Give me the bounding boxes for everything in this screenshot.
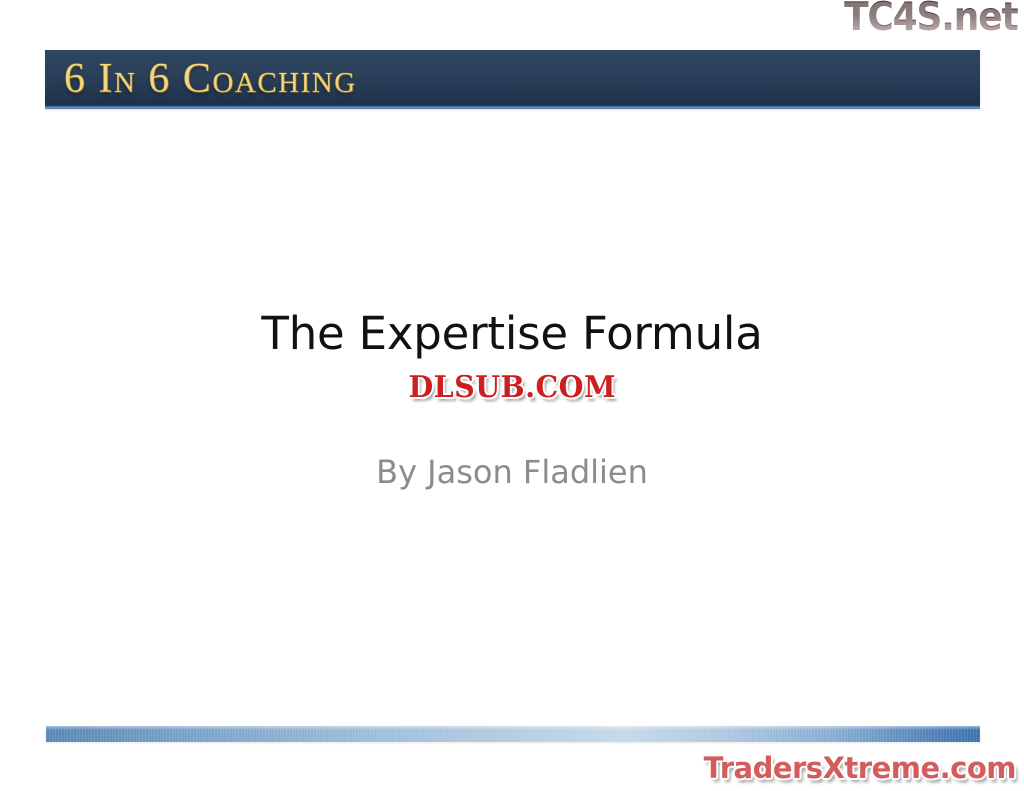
slide-canvas: TC4S.net 6 In 6 Coaching The Expertise F…	[0, 0, 1024, 791]
footer-divider-rule	[46, 726, 980, 742]
slide-subtitle: By Jason Fladlien	[0, 452, 1024, 492]
dlsub-watermark-text: DLSUB.COM	[408, 371, 616, 405]
tc4s-watermark: TC4S.net	[845, 0, 1018, 37]
title-block: The Expertise Formula	[0, 306, 1024, 362]
header-banner-title: 6 In 6 Coaching	[64, 53, 357, 105]
dlsub-watermark: DLSUB.COM	[0, 371, 1024, 405]
header-banner: 6 In 6 Coaching	[45, 50, 980, 108]
subtitle-block: By Jason Fladlien	[0, 452, 1024, 492]
tradersxtreme-watermark: TradersXtreme.com	[704, 751, 1016, 785]
slide-title: The Expertise Formula	[0, 306, 1024, 362]
